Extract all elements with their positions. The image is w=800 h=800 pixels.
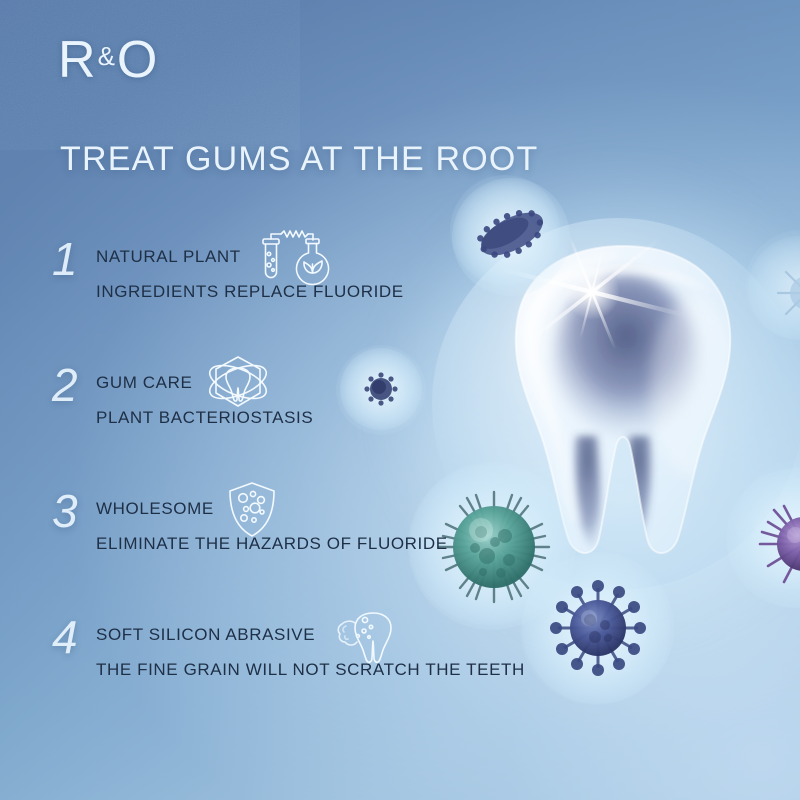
feature-item-1: 1 NATURAL PLANT [48,228,528,354]
brand-left-letter: R [58,31,97,89]
feature-subtitle-1: INGREDIENTS REPLACE FLUORIDE [96,282,526,302]
brand-right-letter: O [117,31,158,89]
feature-title-1: NATURAL PLANT [96,247,241,267]
feature-body-2: GUM CARE PLANT BACTERIOSTASIS [96,354,526,428]
feature-body-3: WHOLESOME [96,480,526,554]
brand-ampersand: & [97,41,117,71]
feature-subtitle-2: PLANT BACTERIOSTASIS [96,408,526,428]
feature-item-3: 3 WHOLESOME [48,480,528,606]
microbe-halo-navy [522,552,674,704]
feature-number-3: 3 [52,488,78,534]
feature-item-2: 2 GUM CARE [48,354,528,480]
feature-title-4: SOFT SILICON ABRASIVE [96,625,315,645]
poster-canvas: R&O TREAT GUMS AT THE ROOT 1 NATURAL PLA… [0,0,800,800]
lens-flare-sparkle [500,200,800,420]
feature-number-4: 4 [52,614,78,660]
shield-bubbles-icon [224,478,280,540]
feature-title-2: GUM CARE [96,373,192,393]
page-title: TREAT GUMS AT THE ROOT [60,140,539,179]
navy-virus-bottom-icon [545,575,651,681]
feature-list: 1 NATURAL PLANT [48,228,528,732]
feature-body-4: SOFT SILICON ABRASIVE [96,606,526,680]
feature-subtitle-4: THE FINE GRAIN WILL NOT SCRATCH THE TEET… [96,660,526,680]
tooth-foam-icon [325,603,403,667]
feature-number-1: 1 [52,236,78,282]
test-tube-flask-leaf-icon [251,228,337,286]
feature-title-3: WHOLESOME [96,499,214,519]
bokeh-bubble-4 [520,555,670,705]
purple-virus-right-icon [752,492,800,596]
tooth-orbit-icon [202,351,274,415]
brand-logo: R&O [58,34,158,86]
feature-subtitle-3: ELIMINATE THE HAZARDS OF FLUORIDE [96,534,526,554]
feature-body-1: NATURAL PLANT [96,228,526,302]
feature-number-2: 2 [52,362,78,408]
feature-item-4: 4 SOFT SILICON ABRASIVE [48,606,528,732]
